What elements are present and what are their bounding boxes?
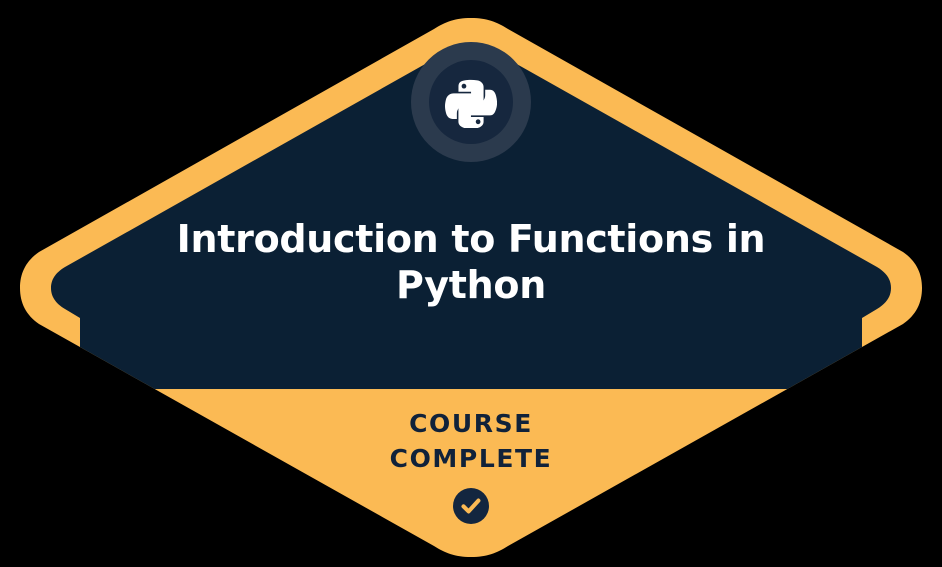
course-completion-badge: Introduction to Functions in Python COUR… [0,0,942,567]
badge-body [0,0,942,567]
badge-navy-panel [51,46,891,389]
badge-diamond-shape [0,0,942,567]
